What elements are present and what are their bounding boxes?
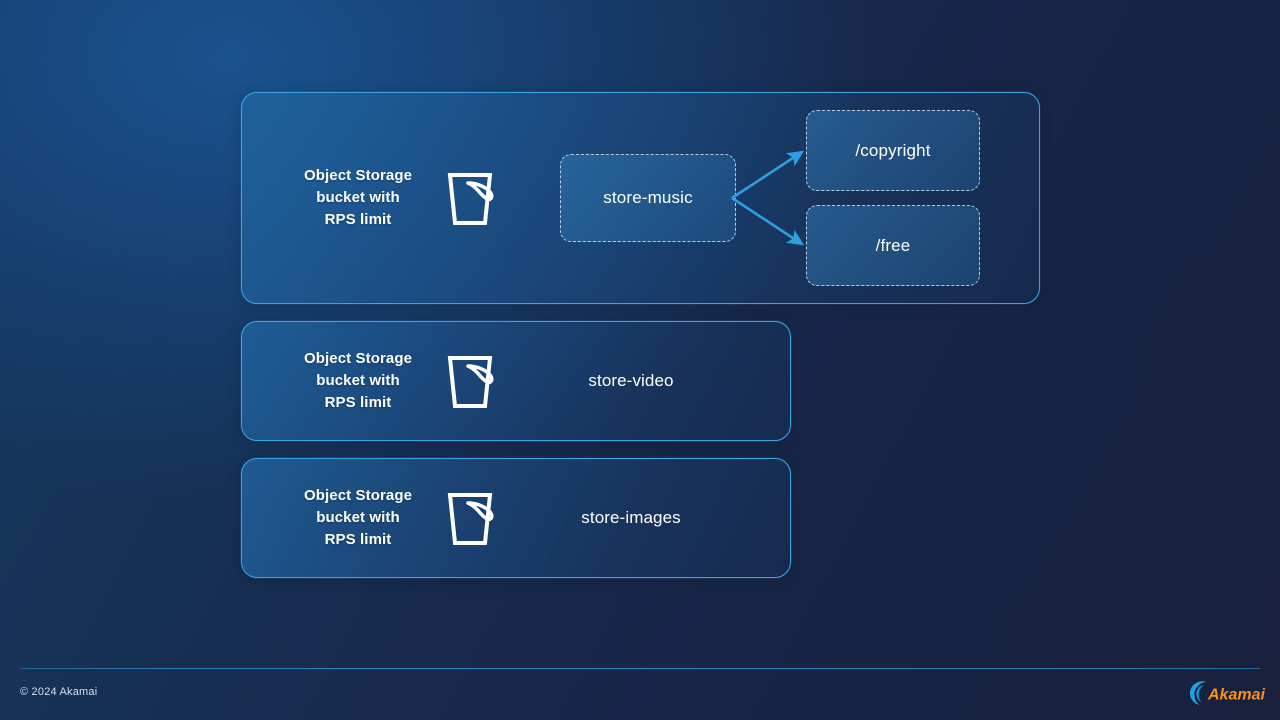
slide-canvas: Object Storage bucket with RPS limit sto… (0, 0, 1280, 720)
bucket-name-store-images: store-images (502, 508, 790, 528)
akamai-wordmark: Akamai (1207, 687, 1265, 704)
path-text: /free (876, 236, 911, 256)
footer-divider (20, 668, 1260, 669)
bucket-label-line-2: bucket with (316, 189, 400, 206)
bucket-label-line-1: Object Storage (304, 350, 412, 367)
bucket-block: Object Storage bucket with RPS limit (242, 348, 502, 414)
bucket-label-line-1: Object Storage (304, 487, 412, 504)
bucket-name-store-video: store-video (502, 371, 790, 391)
path-box-free[interactable]: /free (806, 205, 980, 286)
bucket-name-store-music[interactable]: store-music (560, 154, 736, 242)
bucket-label-line-1: Object Storage (304, 167, 412, 184)
path-text: /copyright (855, 141, 930, 161)
bucket-label: Object Storage bucket with RPS limit (294, 165, 422, 231)
bucket-label: Object Storage bucket with RPS limit (294, 485, 422, 551)
storage-row-store-images: Object Storage bucket with RPS limit sto… (241, 458, 791, 578)
bucket-label-line-3: RPS limit (325, 394, 392, 411)
storage-row-store-video: Object Storage bucket with RPS limit sto… (241, 321, 791, 441)
akamai-swirl-icon (1190, 681, 1206, 705)
bucket-label-line-3: RPS limit (325, 211, 392, 228)
bucket-icon (444, 167, 502, 229)
bucket-icon (444, 487, 502, 549)
bucket-label-line-2: bucket with (316, 509, 400, 526)
bucket-icon (444, 350, 502, 412)
copyright-text: © 2024 Akamai (20, 686, 97, 698)
bucket-label-line-2: bucket with (316, 372, 400, 389)
bucket-label-line-3: RPS limit (325, 531, 392, 548)
bucket-block: Object Storage bucket with RPS limit (242, 485, 502, 551)
path-box-copyright[interactable]: /copyright (806, 110, 980, 191)
akamai-logo: Akamai (1188, 678, 1272, 708)
bucket-block: Object Storage bucket with RPS limit (242, 165, 502, 231)
bucket-name-text: store-music (603, 188, 693, 208)
bucket-label: Object Storage bucket with RPS limit (294, 348, 422, 414)
